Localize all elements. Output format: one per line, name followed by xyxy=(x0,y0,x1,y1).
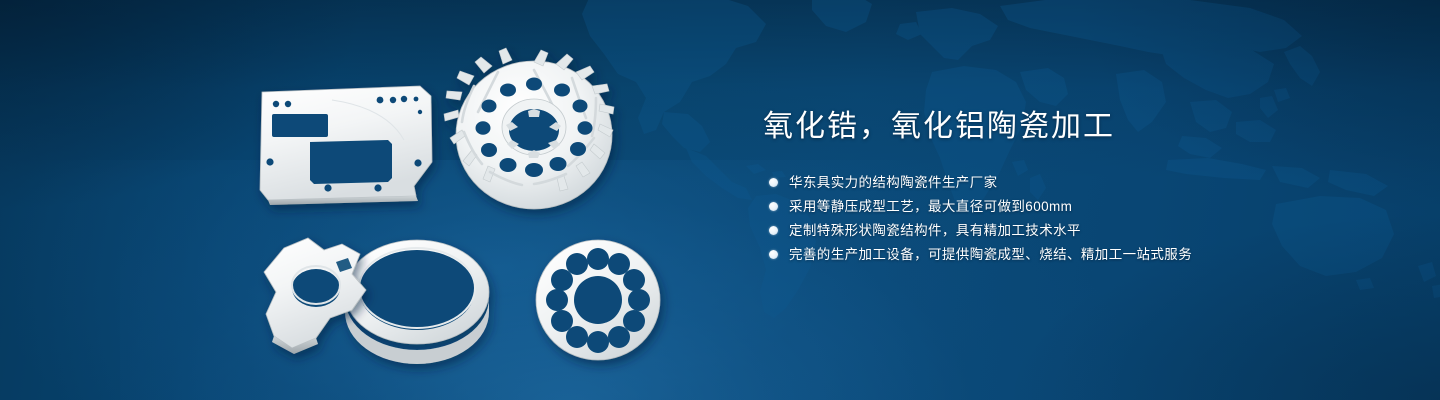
promo-banner: 氧化锆，氧化铝陶瓷加工 华东具实力的结构陶瓷件生产厂家 采用等静压成型工艺，最大… xyxy=(0,0,1440,400)
perforated-ceramic-disc xyxy=(536,240,660,360)
ceramic-impeller-disc xyxy=(444,48,614,209)
banner-copy: 氧化锆，氧化铝陶瓷加工 华东具实力的结构陶瓷件生产厂家 采用等静压成型工艺，最大… xyxy=(763,108,1363,268)
list-item-label: 采用等静压成型工艺，最大直径可做到600mm xyxy=(789,196,1072,217)
bullet-dot-icon xyxy=(769,178,778,187)
page-title: 氧化锆，氧化铝陶瓷加工 xyxy=(763,108,1363,146)
ceramic-cross-plate xyxy=(264,238,366,354)
list-item: 采用等静压成型工艺，最大直径可做到600mm xyxy=(763,196,1363,217)
list-item: 华东具实力的结构陶瓷件生产厂家 xyxy=(763,172,1363,193)
list-item-label: 完善的生产加工设备，可提供陶瓷成型、烧结、精加工一站式服务 xyxy=(789,244,1192,265)
list-item: 完善的生产加工设备，可提供陶瓷成型、烧结、精加工一站式服务 xyxy=(763,244,1363,265)
list-item-label: 定制特殊形状陶瓷结构件，具有精加工技术水平 xyxy=(789,220,1081,241)
list-item-label: 华东具实力的结构陶瓷件生产厂家 xyxy=(789,172,998,193)
feature-list: 华东具实力的结构陶瓷件生产厂家 采用等静压成型工艺，最大直径可做到600mm 定… xyxy=(763,172,1363,265)
list-item: 定制特殊形状陶瓷结构件，具有精加工技术水平 xyxy=(763,220,1363,241)
ceramic-products-image xyxy=(0,0,740,400)
bullet-dot-icon xyxy=(769,250,778,259)
machined-ceramic-plate xyxy=(260,86,432,205)
bullet-dot-icon xyxy=(769,226,778,235)
ceramic-ring xyxy=(345,240,489,364)
bullet-dot-icon xyxy=(769,202,778,211)
